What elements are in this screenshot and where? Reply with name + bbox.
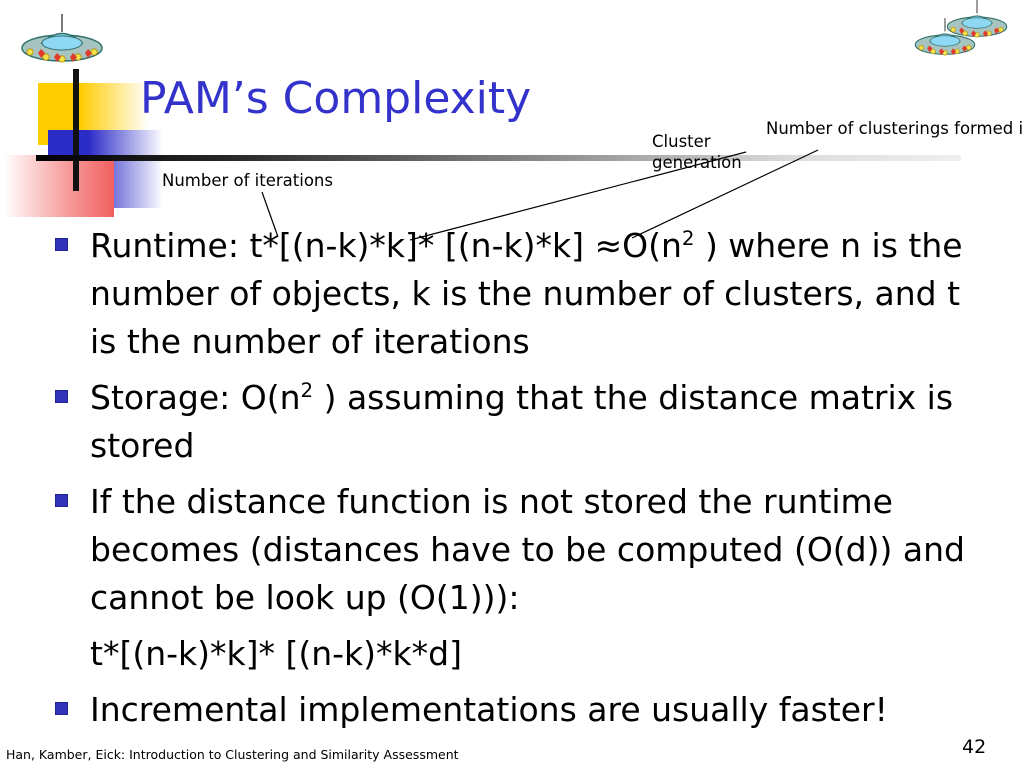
page-number: 42 <box>962 736 986 758</box>
square-bullet-icon <box>55 238 68 251</box>
bullet-text: If the distance function is not stored t… <box>90 478 970 622</box>
bullet-item: Runtime: t*[(n-k)*k]* [(n-k)*k] ≈O(n2 ) … <box>0 222 1024 366</box>
bullet-text: Storage: O(n2 ) assuming that the distan… <box>90 374 970 470</box>
superscript: 2 <box>682 227 695 250</box>
footer-citation: Han, Kamber, Eick: Introduction to Clust… <box>6 747 459 762</box>
bullet-item: Storage: O(n2 ) assuming that the distan… <box>0 374 1024 470</box>
bullet-text: t*[(n-k)*k]* [(n-k)*k*d] <box>90 630 970 678</box>
square-bullet-icon <box>55 390 68 403</box>
square-bullet-icon <box>55 494 68 507</box>
superscript: 2 <box>301 379 314 402</box>
callout-clusterings-formed: Number of clusterings formed in one iter… <box>766 118 1024 139</box>
bullet-text: Runtime: t*[(n-k)*k]* [(n-k)*k] ≈O(n2 ) … <box>90 222 970 366</box>
bullet-item: If the distance function is not stored t… <box>0 478 1024 622</box>
callout-number-of-iterations: Number of iterations <box>162 170 333 191</box>
callout-cluster-generation: Cluster generation <box>652 131 742 173</box>
square-bullet-icon <box>55 702 68 715</box>
continuation-line: t*[(n-k)*k]* [(n-k)*k*d] <box>0 630 1024 678</box>
slide-body: Runtime: t*[(n-k)*k]* [(n-k)*k] ≈O(n2 ) … <box>0 222 1024 742</box>
bullet-text: Incremental implementations are usually … <box>90 686 970 734</box>
bullet-item: Incremental implementations are usually … <box>0 686 1024 734</box>
